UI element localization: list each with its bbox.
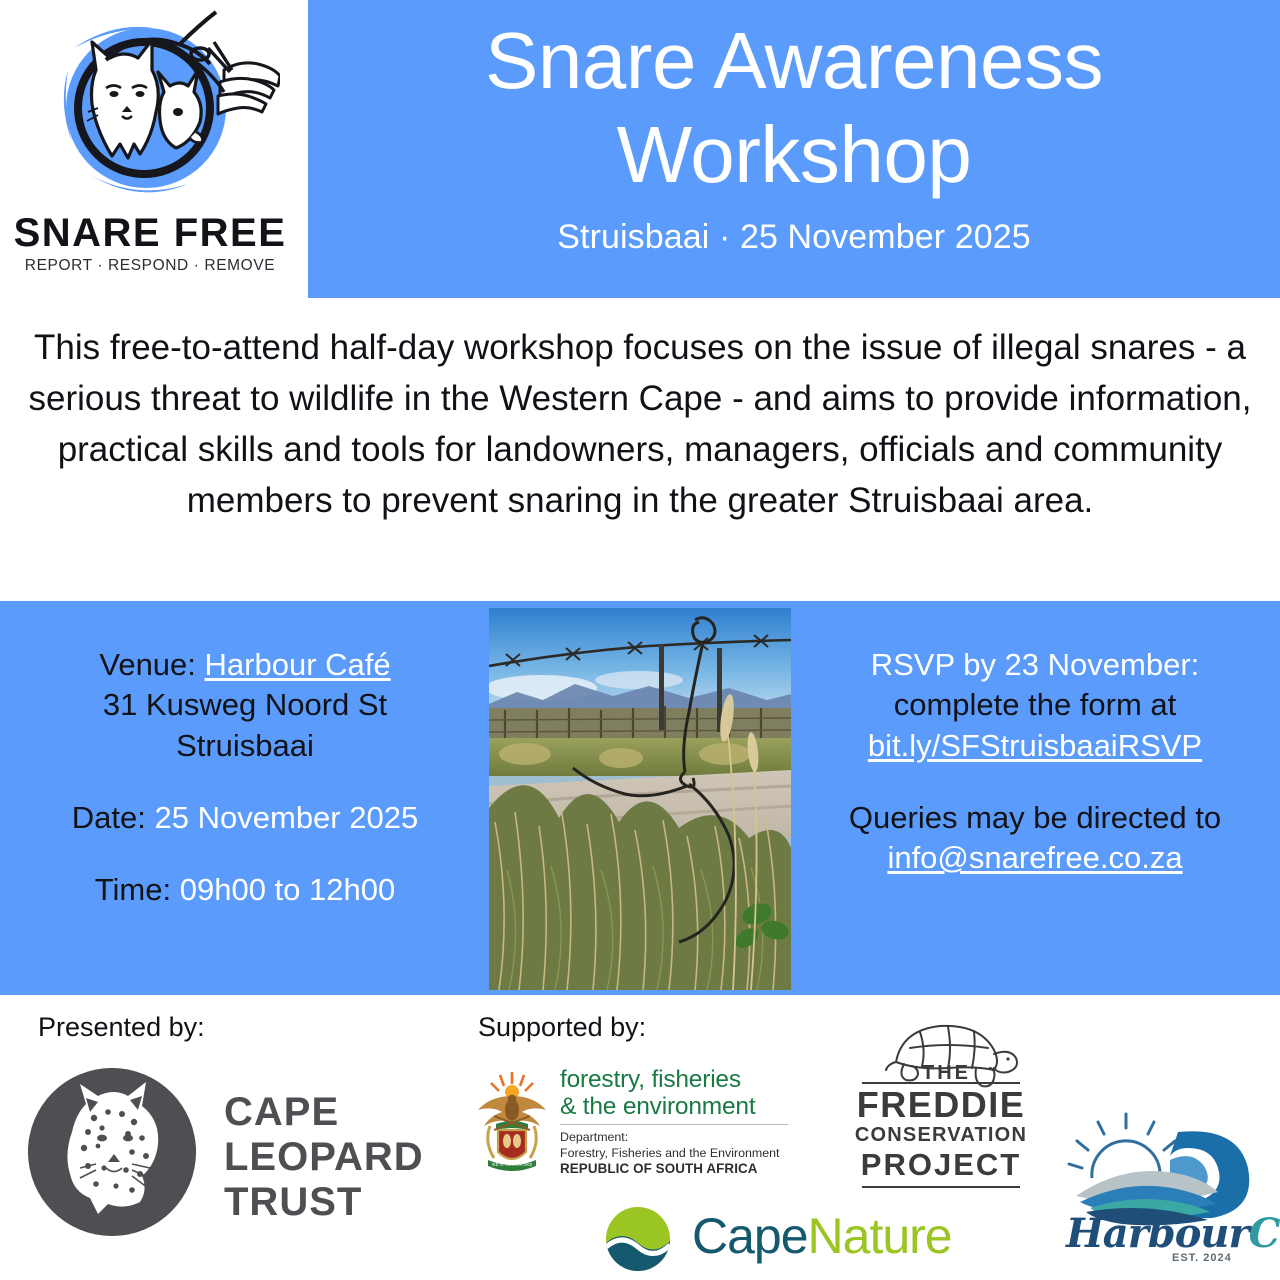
harbour-word: Harbour xyxy=(1066,1210,1249,1257)
rsvp-instruction: complete the form at xyxy=(800,685,1270,725)
clt-line-1: CAPE xyxy=(224,1090,424,1135)
page-title: Snare Awareness Workshop xyxy=(328,14,1260,203)
freddie-project-label: PROJECT xyxy=(848,1147,1034,1183)
venue-address-line-1: 31 Kusweg Noord St xyxy=(10,685,480,725)
cape-leopard-trust-logo: CAPE LEOPARD TRUST xyxy=(28,1068,448,1248)
freddie-bottom-rule xyxy=(862,1186,1020,1188)
dffe-logo: !KE E: /XARRA //KE forestry, fisheries &… xyxy=(472,1062,802,1182)
harbour-cafe-logo: HarbourCafé EST. 2024 xyxy=(1060,1110,1272,1275)
time-value: 09h00 to 12h00 xyxy=(180,872,396,907)
intro-paragraph: This free-to-attend half-day workshop fo… xyxy=(22,322,1258,526)
capenature-logo: CapeNature xyxy=(598,1205,978,1273)
freddie-conservation-project-logo: THE FREDDIE CONSERVATION PROJECT xyxy=(848,1010,1034,1190)
cape-leopard-trust-wordmark: CAPE LEOPARD TRUST xyxy=(224,1090,424,1224)
dffe-dept-line-3: REPUBLIC OF SOUTH AFRICA xyxy=(560,1161,758,1176)
page-subtitle: Struisbaai · 25 November 2025 xyxy=(328,218,1260,257)
rsvp-block: RSVP by 23 November: complete the form a… xyxy=(800,645,1270,878)
capenature-wave-icon xyxy=(598,1205,678,1273)
logo-title: SNARE FREE xyxy=(0,212,300,254)
time-line: Time: 09h00 to 12h00 xyxy=(10,870,480,910)
date-line: Date: 25 November 2025 xyxy=(10,798,480,838)
date-label: Date: xyxy=(72,800,146,835)
venue-name[interactable]: Harbour Café xyxy=(205,647,391,682)
dffe-department-name: forestry, fisheries & the environment xyxy=(560,1066,755,1121)
time-label: Time: xyxy=(95,872,171,907)
poster-header: SNARE FREE REPORT · RESPOND · REMOVE Sna… xyxy=(0,0,1280,298)
rsvp-link[interactable]: bit.ly/SFStruisbaaiRSVP xyxy=(800,726,1270,766)
venue-address-line-2: Struisbaai xyxy=(10,726,480,766)
south-africa-coat-of-arms-icon: !KE E: /XARRA //KE xyxy=(472,1066,552,1174)
freddie-conservation-label: CONSERVATION xyxy=(848,1124,1034,1147)
dffe-green-line-1: forestry, fisheries xyxy=(560,1066,755,1093)
dffe-department-detail: Department: Forestry, Fisheries and the … xyxy=(560,1130,779,1178)
snare-free-wordmark: SNARE FREE REPORT · RESPOND · REMOVE xyxy=(0,212,300,275)
snare-free-logo-block: SNARE FREE REPORT · RESPOND · REMOVE xyxy=(0,0,308,298)
snare-photo xyxy=(489,608,791,990)
dffe-dept-line-2: Forestry, Fisheries and the Environment xyxy=(560,1146,779,1162)
clt-line-2: LEOPARD xyxy=(224,1135,424,1180)
venue-label: Venue: xyxy=(99,647,196,682)
dffe-divider xyxy=(560,1124,788,1125)
svg-text:!KE E: /XARRA //KE: !KE E: /XARRA //KE xyxy=(491,1162,532,1167)
venue-line: Venue: Harbour Café xyxy=(10,645,480,685)
cafe-word: Café xyxy=(1249,1210,1280,1257)
presented-by-label: Presented by: xyxy=(38,1012,205,1043)
queries-text: Queries may be directed to xyxy=(800,798,1270,838)
clt-line-3: TRUST xyxy=(224,1180,424,1225)
contact-email-link[interactable]: info@snarefree.co.za xyxy=(800,838,1270,878)
capenature-nature: Nature xyxy=(808,1208,952,1264)
venue-details-block: Venue: Harbour Café 31 Kusweg Noord St S… xyxy=(10,645,480,910)
freddie-name: FREDDIE xyxy=(848,1084,1034,1126)
date-value: 25 November 2025 xyxy=(155,800,419,835)
logo-tagline: REPORT · RESPOND · REMOVE xyxy=(0,257,300,275)
snare-free-logo-icon xyxy=(28,8,280,208)
rsvp-deadline: RSVP by 23 November: xyxy=(800,645,1270,685)
harbour-cafe-wordmark: HarbourCafé xyxy=(1066,1210,1266,1257)
supported-by-label: Supported by: xyxy=(478,1012,646,1043)
dffe-green-line-2: & the environment xyxy=(560,1093,755,1120)
leopard-head-icon xyxy=(28,1068,196,1236)
capenature-cape: Cape xyxy=(692,1208,808,1264)
harbour-cafe-est: EST. 2024 xyxy=(1172,1252,1232,1264)
dffe-dept-line-1: Department: xyxy=(560,1130,779,1146)
capenature-wordmark: CapeNature xyxy=(692,1207,952,1265)
